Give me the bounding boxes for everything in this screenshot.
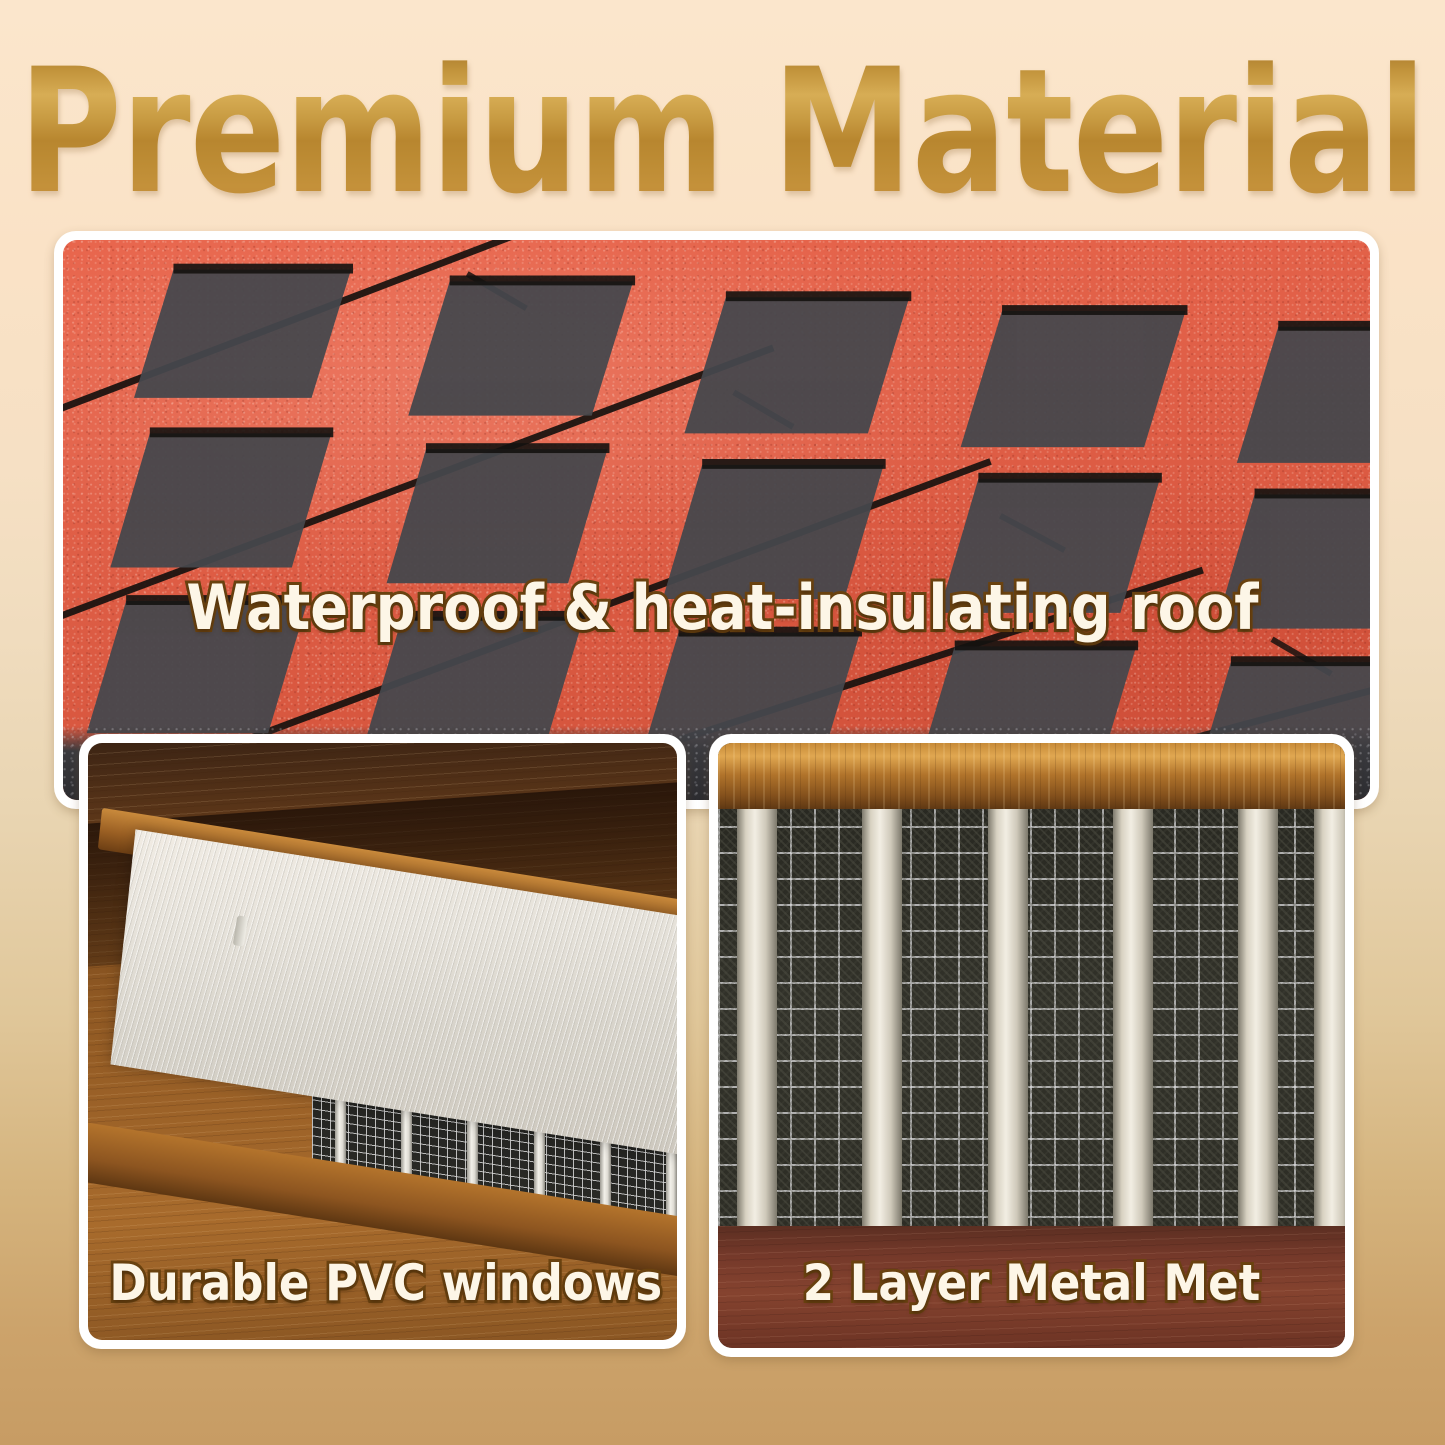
panel-two-layer-metal-mesh [709,734,1354,1357]
panel-durable-pvc-windows [79,734,686,1349]
mesh-post [988,797,1028,1236]
mesh-post [1238,797,1278,1236]
page-title: Premium Material [19,48,1426,216]
mesh-post [1314,797,1345,1236]
panel-mesh-image [718,743,1345,1348]
mesh-wood-floor [718,1226,1345,1348]
panel-pvc-image [88,743,677,1340]
page-title-container: Premium Material [0,48,1445,216]
mesh-post [862,797,902,1236]
mesh-wood-top-trim [718,743,1345,809]
mesh-post [737,797,777,1236]
panel-roof-image [63,240,1370,800]
mesh-post [1113,797,1153,1236]
roof-dark-tabs [63,240,1370,800]
mesh-vertical-posts [718,797,1345,1236]
panel-waterproof-roof [54,231,1379,809]
